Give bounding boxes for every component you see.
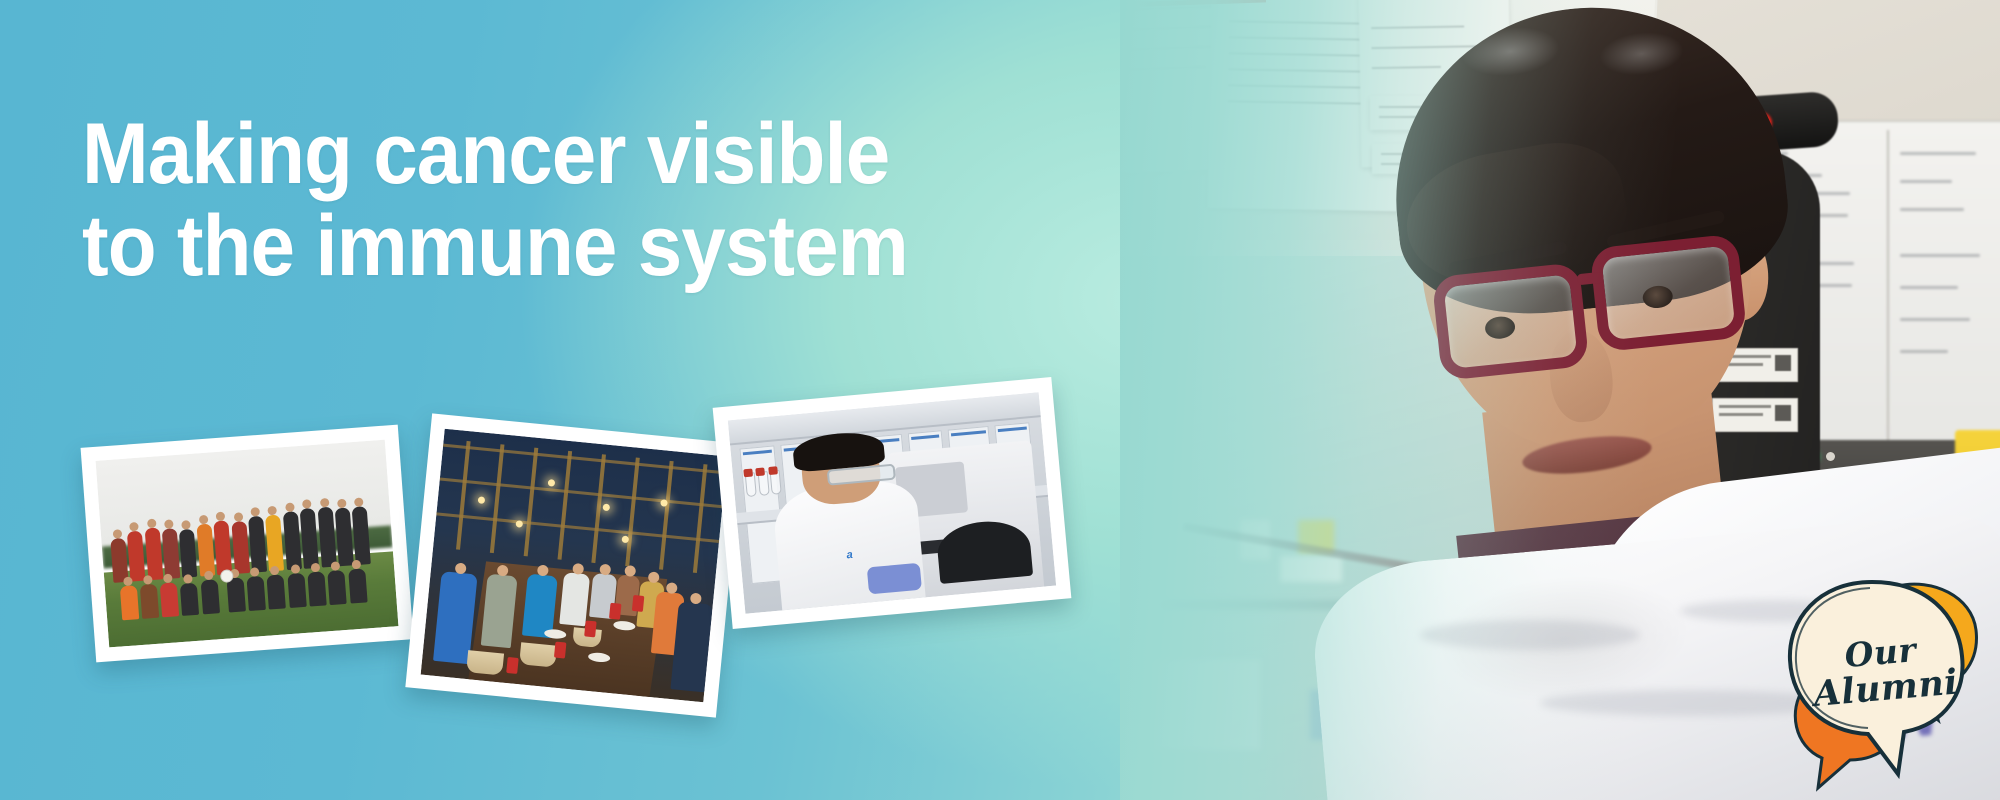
alumni-banner: SIgN Making cancer visible to the immune… — [0, 0, 2000, 800]
astar-logo-icon: a — [846, 549, 853, 562]
dinner-photo-image — [421, 429, 728, 703]
polaroid-team-photo[interactable] — [81, 425, 414, 663]
lab-photo-image: a — [728, 392, 1056, 613]
glove-icon — [867, 563, 922, 595]
polaroid-lab-photo[interactable]: a — [713, 377, 1072, 629]
badge-label: Our Alumni — [1813, 630, 1951, 711]
team-photo-image — [96, 440, 399, 648]
headline-line-1: Making cancer visible — [82, 108, 908, 200]
page-title: Making cancer visible to the immune syst… — [82, 108, 908, 292]
our-alumni-badge[interactable]: Our Alumni — [1780, 568, 2000, 800]
polaroid-dinner-photo[interactable] — [405, 413, 742, 717]
headline-line-2: to the immune system — [82, 200, 908, 292]
